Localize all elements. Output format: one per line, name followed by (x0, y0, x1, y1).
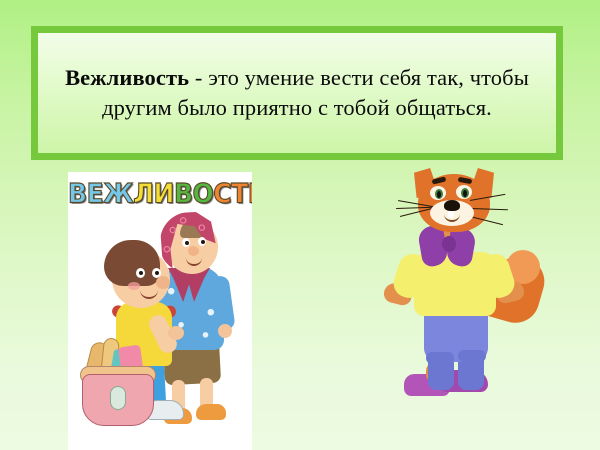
cat-pant-cuff-right (458, 350, 486, 362)
cat-character (382, 170, 546, 426)
grandma-pupil-right (201, 240, 205, 244)
grandma-nose (188, 246, 199, 256)
grandma-pupil-left (185, 241, 189, 245)
poster-title-letter: О (193, 180, 214, 206)
poster-title-letter: В (68, 180, 87, 206)
cat-pupil-right (463, 190, 467, 197)
cat-pupil-left (437, 191, 441, 198)
poster-title-letter: И (154, 180, 174, 206)
poster-image: ВЕЖЛИВОСТЬ (68, 172, 252, 450)
poster-scene-boy-and-grandma (68, 210, 252, 450)
boy-hair (104, 240, 160, 286)
boy-nose (156, 276, 170, 289)
cat-bowtie-knot (442, 236, 456, 252)
poster-title-letter: Л (133, 180, 153, 206)
poster-title: ВЕЖЛИВОСТЬ (68, 181, 252, 206)
boy-pupil-right (155, 271, 159, 275)
cat-tooth (448, 210, 454, 218)
shopping-bag-clasp (110, 386, 126, 410)
poster-title-letter: С (213, 180, 231, 206)
slide-canvas: Вежливость - это умение вести себя так, … (0, 0, 600, 450)
boy-pupil-left (139, 271, 143, 275)
cat-pant-cuff-left (426, 352, 454, 364)
poster-title-letter: В (174, 180, 193, 206)
boy-hand (168, 326, 184, 340)
poster-title-letter: Ь (248, 180, 252, 206)
cat-nose (444, 200, 460, 211)
poster-title-letter: Т (231, 180, 248, 206)
poster-title-letter: Е (87, 180, 104, 206)
poster-title-letter: Ж (103, 180, 133, 206)
definition-text-box: Вежливость - это умение вести себя так, … (31, 26, 563, 160)
boy-cheek (128, 282, 140, 290)
definition-paragraph: Вежливость - это умение вести себя так, … (38, 63, 556, 122)
definition-term: Вежливость (65, 65, 189, 90)
grandma-shoe-right (196, 404, 226, 420)
grandma-hand-right (218, 324, 232, 338)
